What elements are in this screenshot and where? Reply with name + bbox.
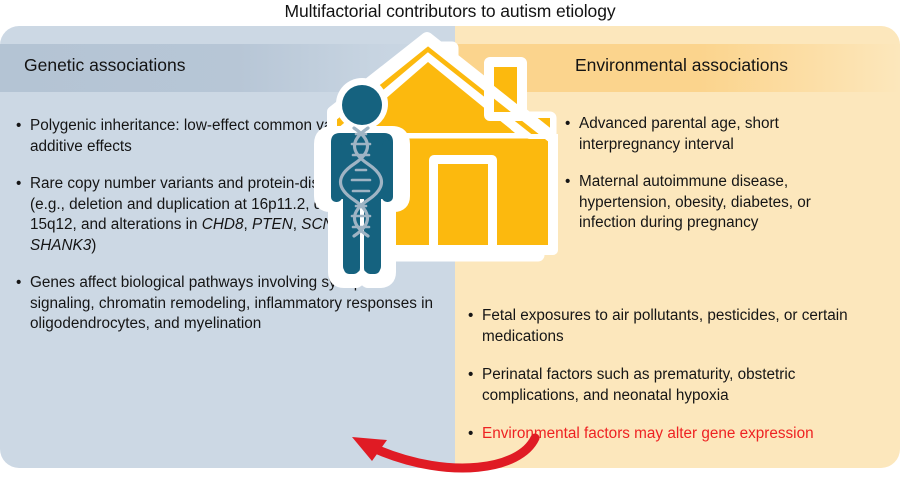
bullet-item: Genes affect biological pathways involvi…	[16, 273, 436, 335]
genetic-associations-panel: Genetic associations Polygenic inheritan…	[0, 26, 455, 468]
bullet-item: Polygenic inheritance: low-effect common…	[16, 116, 436, 157]
autism-etiology-figure: Multifactorial contributors to autism et…	[0, 0, 900, 488]
gene-name: SHANK3	[30, 237, 91, 254]
bullet-text: Advanced parental age, short interpregna…	[579, 115, 779, 153]
bullet-text: Perinatal factors such as prematurity, o…	[482, 366, 795, 404]
bullet-text: ,	[243, 216, 252, 233]
gene-name: SCN2A	[301, 216, 352, 233]
bullet-text: Polygenic inheritance: low-effect common…	[30, 117, 408, 155]
bullet-text: Maternal autoimmune disease, hypertensio…	[579, 173, 811, 231]
bullet-item: Rare copy number variants and protein-di…	[16, 174, 436, 256]
environmental-list-bottom: Fetal exposures to air pollutants, pesti…	[468, 306, 880, 463]
bullet-item: Advanced parental age, short interpregna…	[565, 114, 865, 155]
environmental-associations-heading: Environmental associations	[575, 55, 788, 76]
genetic-associations-list: Polygenic inheritance: low-effect common…	[16, 116, 436, 352]
bullet-item: Fetal exposures to air pollutants, pesti…	[468, 306, 880, 347]
bullet-text: , and	[352, 216, 386, 233]
bullet-text: ,	[293, 216, 302, 233]
bullet-text: Fetal exposures to air pollutants, pesti…	[482, 307, 848, 345]
environmental-list-top: Advanced parental age, short interpregna…	[565, 114, 865, 251]
figure-title: Multifactorial contributors to autism et…	[0, 1, 900, 22]
bullet-text: Genes affect biological pathways involvi…	[30, 274, 433, 332]
panel-container: Genetic associations Polygenic inheritan…	[0, 26, 900, 468]
gene-name: CHD8	[202, 216, 244, 233]
bullet-item: Perinatal factors such as prematurity, o…	[468, 365, 880, 406]
bullet-text: Environmental factors may alter gene exp…	[482, 425, 814, 442]
bullet-text: )	[91, 237, 96, 254]
bullet-item: Environmental factors may alter gene exp…	[468, 424, 880, 445]
bullet-item: Maternal autoimmune disease, hypertensio…	[565, 172, 865, 234]
genetic-associations-heading: Genetic associations	[24, 55, 185, 76]
gene-name: PTEN	[252, 216, 293, 233]
